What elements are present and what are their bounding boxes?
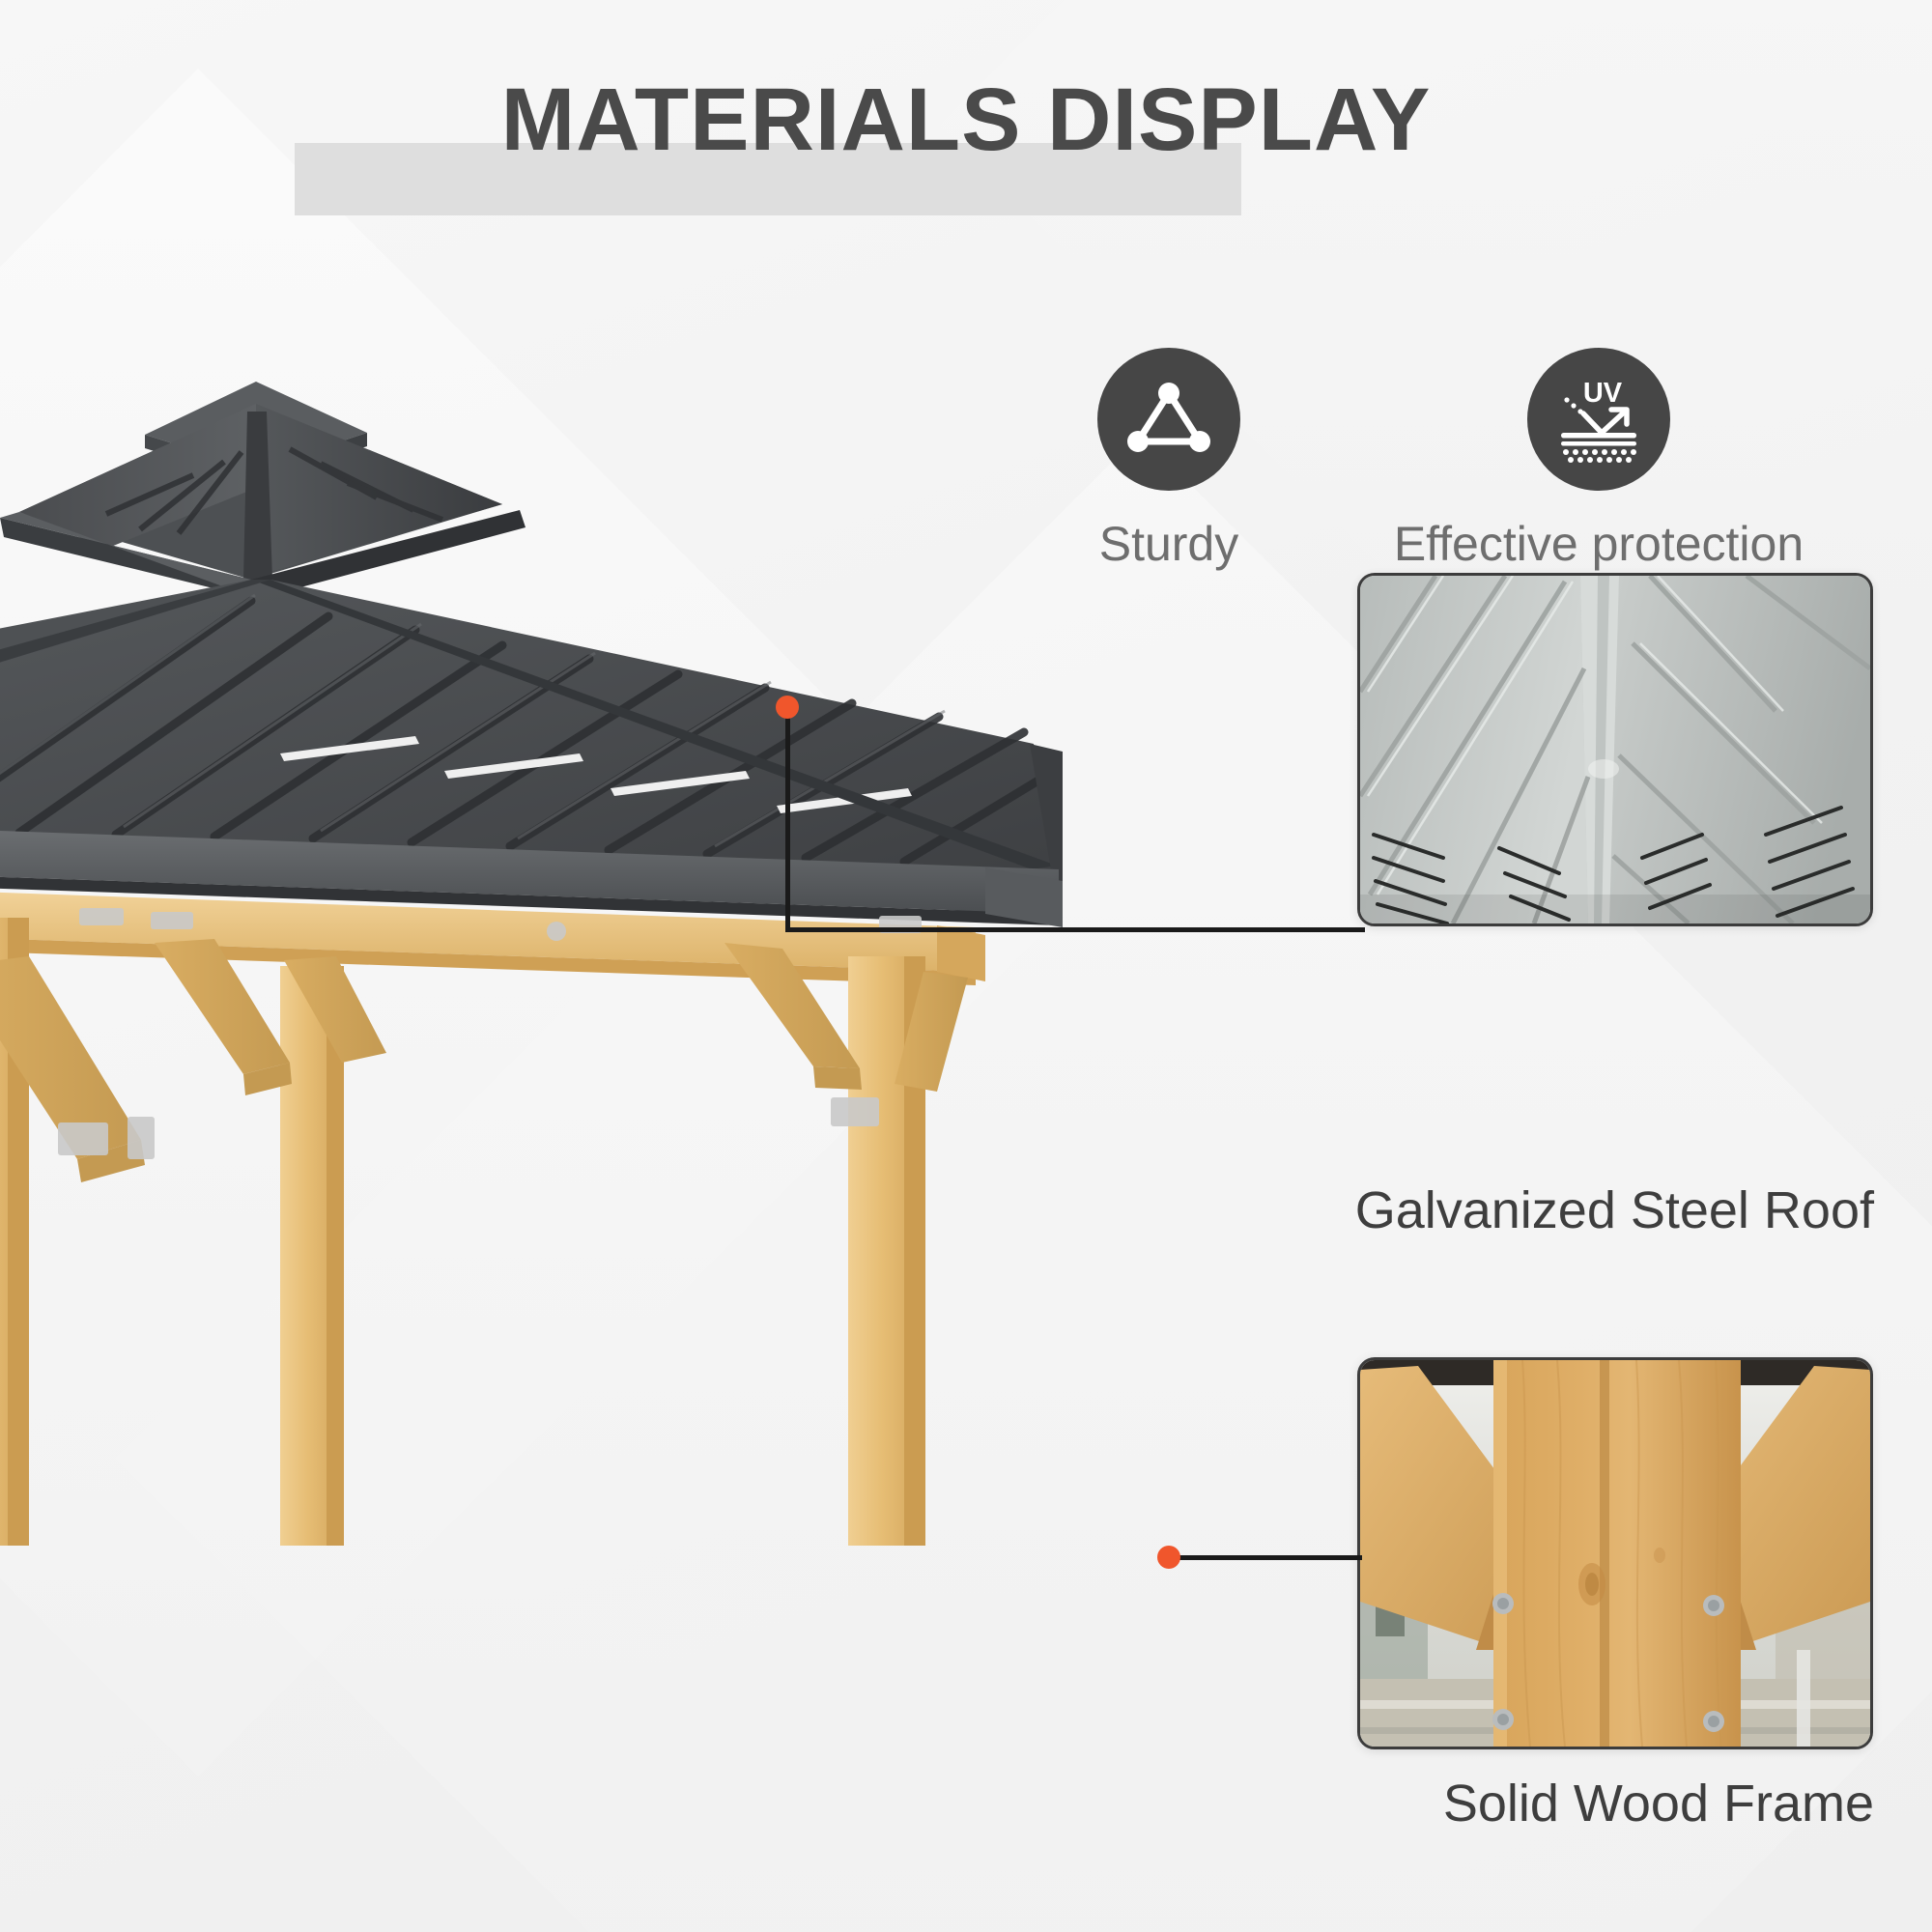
callout-leader-roof-vertical [785,707,790,931]
callout-leader-frame-horizontal [1169,1555,1362,1560]
detail-caption-solid-wood-frame: Solid Wood Frame [1024,1774,1874,1833]
uv-protection-icon: UV [1548,373,1650,466]
triangle-nodes-icon [1124,378,1213,461]
materials-display-graphic: MATERIALS DISPLAY Sturdy [0,0,1932,1932]
hardtop-gazebo-render [0,290,1063,1546]
roof-cupola [0,382,526,599]
feature-badge-group: Sturdy UV [1053,348,1855,599]
feature-effective-protection: UV [1343,348,1855,572]
feature-label-sturdy: Sturdy [1099,516,1239,572]
callout-marker-frame [1157,1546,1180,1569]
detail-photo-galvanized-steel-roof [1357,573,1873,926]
uv-protection-badge: UV [1527,348,1670,491]
feature-label-effective-protection: Effective protection [1394,516,1804,572]
feature-sturdy: Sturdy [1053,348,1285,572]
sturdy-badge [1097,348,1240,491]
wood-frame [0,889,985,1546]
detail-photo-solid-wood-frame [1357,1357,1873,1749]
page-title: MATERIALS DISPLAY [0,75,1932,164]
callout-leader-roof-horizontal [785,927,1365,932]
callout-marker-roof [776,696,799,719]
svg-text:UV: UV [1583,378,1623,409]
detail-caption-galvanized-steel-roof: Galvanized Steel Roof [1024,1180,1874,1240]
